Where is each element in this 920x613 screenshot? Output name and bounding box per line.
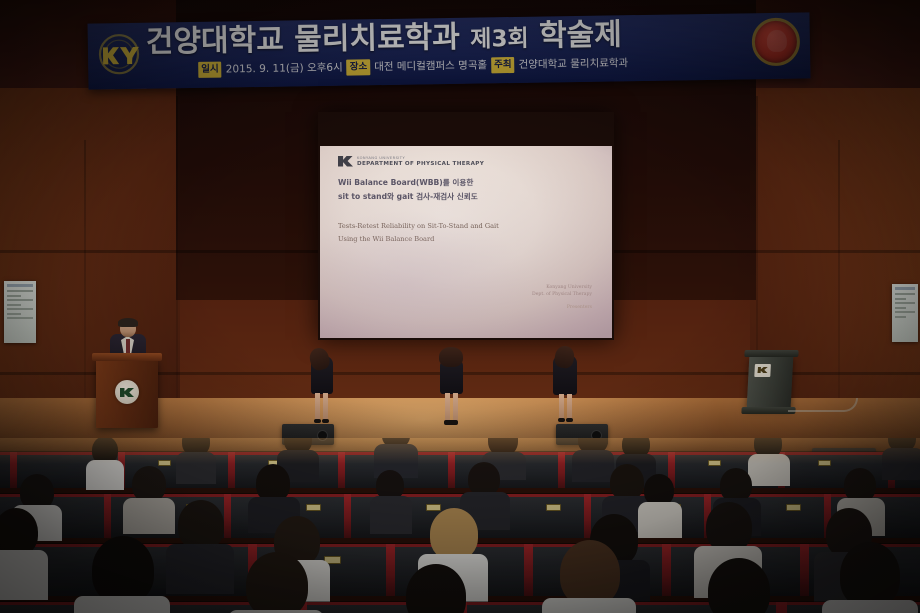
slide-credits: Konyang University Dept. of Physical The… [462,284,592,311]
notice-line [7,290,33,292]
seat-number-tag [426,504,441,511]
event-banner: 건양대학교 물리치료학과 제3회 학술제 일시 2015. 9. 11(금) 오… [88,12,811,89]
wall-notice-right [892,284,918,342]
banner-host-value: 건양대학교 물리치료학과 [518,56,628,72]
notice-line [7,295,21,297]
slide-korean-line2: sit to stand와 gait 검사-재검사 신뢰도 [338,190,588,204]
presenter-left [306,348,338,424]
banner-host-tag: 주최 [491,57,515,73]
presenter-hair [439,347,463,367]
ky-university-seal-icon [115,380,139,404]
notice-line [7,299,33,301]
banner-title-event: 학술제 [539,17,622,53]
speaker-podium [96,358,158,428]
notice-line [895,293,915,295]
lectern-cable [788,398,858,412]
banner-title-ordinal: 제3회 [470,26,529,53]
slide-korean-line1: Wii Balance Board(WBB)를 이용한 [338,176,588,190]
banner-place-value: 대전 메디컬캠퍼스 명곡홀 [374,58,487,74]
notice-line [895,298,906,300]
slide-korean-title: Wii Balance Board(WBB)를 이용한 sit to stand… [338,176,588,203]
speaker-tie [126,339,130,353]
notice-header-bar [7,284,33,287]
notice-line [895,316,906,318]
lectern-ky-plate-icon [754,364,771,377]
notice-line [895,311,915,313]
presenter-right [548,346,582,424]
slide-credit-line2: Dept. of Physical Therapy [462,291,592,298]
banner-title-main: 건양대학교 물리치료학과 [146,20,461,60]
slide-credit-names: Presenters [462,304,592,311]
presenter-center [434,348,468,426]
slide-english-title: Tests-Retest Reliability on Sit-To-Stand… [338,220,593,246]
projection-screen: KONYANG UNIVERSITY DEPARTMENT OF PHYSICA… [320,146,612,338]
notice-header-bar [895,287,915,290]
audience-seating [0,438,920,613]
auditorium-scene: 건양대학교 물리치료학과 제3회 학술제 일시 2015. 9. 11(금) 오… [0,0,920,613]
seat-number-tag [158,460,171,466]
banner-date-tag: 일시 [198,62,222,78]
speaker-hair [118,318,138,327]
slide-english-line1: Tests-Retest Reliability on Sit-To-Stand… [338,220,593,233]
seat-number-tag [546,504,561,511]
ky-mark-icon [338,156,353,167]
notice-line [895,307,906,309]
seat-number-tag [306,504,321,511]
notice-line [7,304,21,306]
slide-org-logo: KONYANG UNIVERSITY DEPARTMENT OF PHYSICA… [338,155,484,167]
slide-credit-line1: Konyang University [462,284,592,291]
banner-date-value: 2015. 9. 11(금) 오후6시 [226,61,343,77]
seat-number-tag [818,460,831,466]
seat-number-tag [708,460,721,466]
slide-english-line2: Using the Wii Balance Board [338,233,593,246]
notice-line [895,302,915,304]
seat-number-tag [786,504,801,511]
notice-line [7,308,33,310]
banner-place-tag: 장소 [347,59,371,75]
wall-panel-seam [838,140,840,440]
secondary-lectern [747,356,794,408]
notice-line [7,317,33,319]
notice-line [7,313,21,315]
wall-panel-seam [84,140,86,440]
slide-org-line2: DEPARTMENT OF PHYSICAL THERAPY [357,161,484,167]
ky-university-logo-icon [96,31,143,78]
wall-notice-left [4,281,36,343]
